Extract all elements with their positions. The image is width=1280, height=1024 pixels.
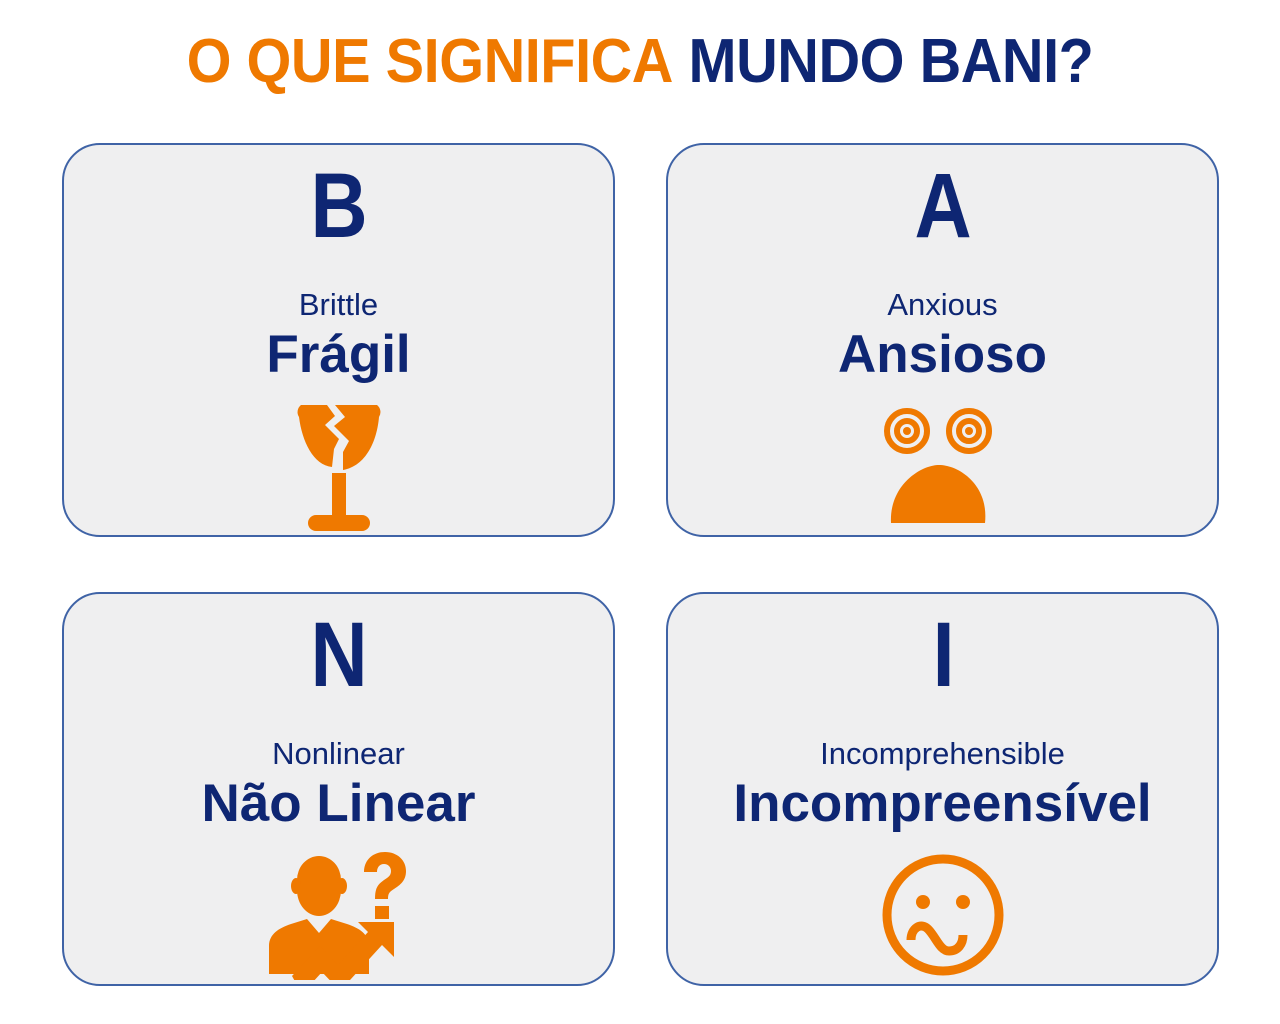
card-icon-slot [264,850,414,984]
anxious-face-icon [873,401,1013,533]
bani-card-nonlinear[interactable]: N Nonlinear Não Linear [62,592,615,986]
card-term-english: Incomprehensible [820,736,1065,772]
card-initial-letter: B [311,169,366,243]
broken-glass-icon [291,401,387,537]
bani-card-grid: B Brittle Frágil A Anxious Ansios [62,143,1219,986]
card-initial-letter: A [915,169,970,243]
card-term-english: Brittle [299,287,378,323]
card-term-portuguese: Não Linear [202,774,476,834]
card-initial-letter: N [311,618,366,692]
card-icon-slot [291,401,387,537]
person-question-chart-icon [264,850,414,980]
page-title-subject: MUNDO BANI? [689,27,1094,96]
card-term-english: Anxious [887,287,997,323]
bani-card-anxious[interactable]: A Anxious Ansioso [666,143,1219,537]
bani-card-incomprehensible[interactable]: I Incomprehensible Incompreensível [666,592,1219,986]
card-term-portuguese: Ansioso [838,325,1047,385]
bani-card-brittle[interactable]: B Brittle Frágil [62,143,615,537]
card-term-english: Nonlinear [272,736,405,772]
card-icon-slot [878,850,1008,984]
page-title-highlight: O QUE SIGNIFICA [187,27,673,96]
card-term-portuguese: Incompreensível [733,774,1151,834]
page-title: O QUE SIGNIFICA MUNDO BANI? [45,20,1235,104]
card-initial-letter: I [932,618,952,692]
confused-face-icon [878,850,1008,980]
card-term-portuguese: Frágil [266,325,410,385]
card-icon-slot [873,401,1013,535]
